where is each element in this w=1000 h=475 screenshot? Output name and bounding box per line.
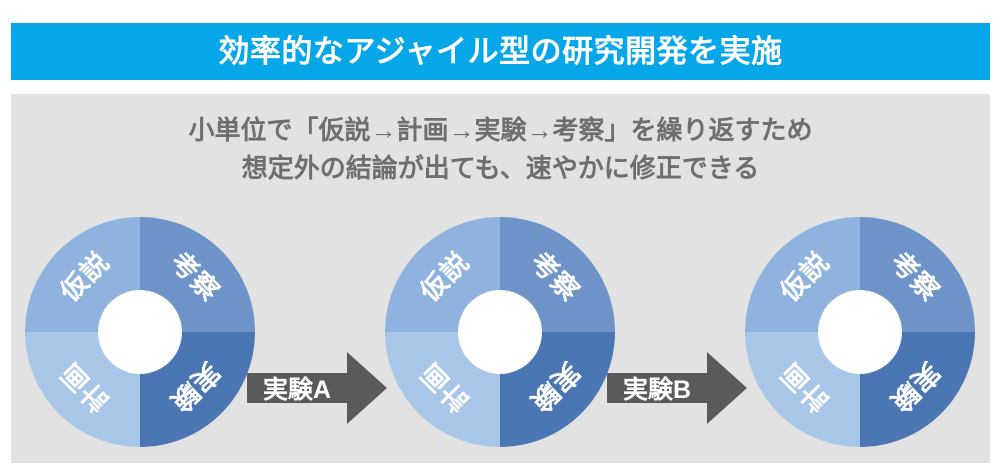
arrow-2: 実験B [601,350,749,426]
body-panel: 小単位で「仮説→計画→実験→考察」を繰り返すため 想定外の結論が出ても、速やかに… [11,94,990,463]
cycle-diagram-3: 実験 計画 仮説 考察 [745,217,975,447]
cycle-3-center-hole [818,290,902,374]
infographic-canvas: 効率的なアジャイル型の研究開発を実施 小単位で「仮説→計画→実験→考察」を繰り返… [0,0,1000,475]
subtitle: 小単位で「仮説→計画→実験→考察」を繰り返すため 想定外の結論が出ても、速やかに… [11,112,990,187]
title-bar: 効率的なアジャイル型の研究開発を実施 [11,23,990,80]
subtitle-line-2: 想定外の結論が出ても、速やかに修正できる [11,150,990,188]
arrow-2-shape [607,352,747,424]
cycle-diagram-1: 実験 計画 仮説 考察 [25,217,255,447]
cycle-2-center-hole [458,290,542,374]
page-title: 効率的なアジャイル型の研究開発を実施 [218,36,782,67]
cycle-1-center-hole [98,290,182,374]
cycle-diagram-2: 実験 計画 仮説 考察 [385,217,615,447]
subtitle-line-1: 小単位で「仮説→計画→実験→考察」を繰り返すため [11,112,990,150]
arrow-1: 実験A [241,350,389,426]
arrow-1-shape [247,352,387,424]
